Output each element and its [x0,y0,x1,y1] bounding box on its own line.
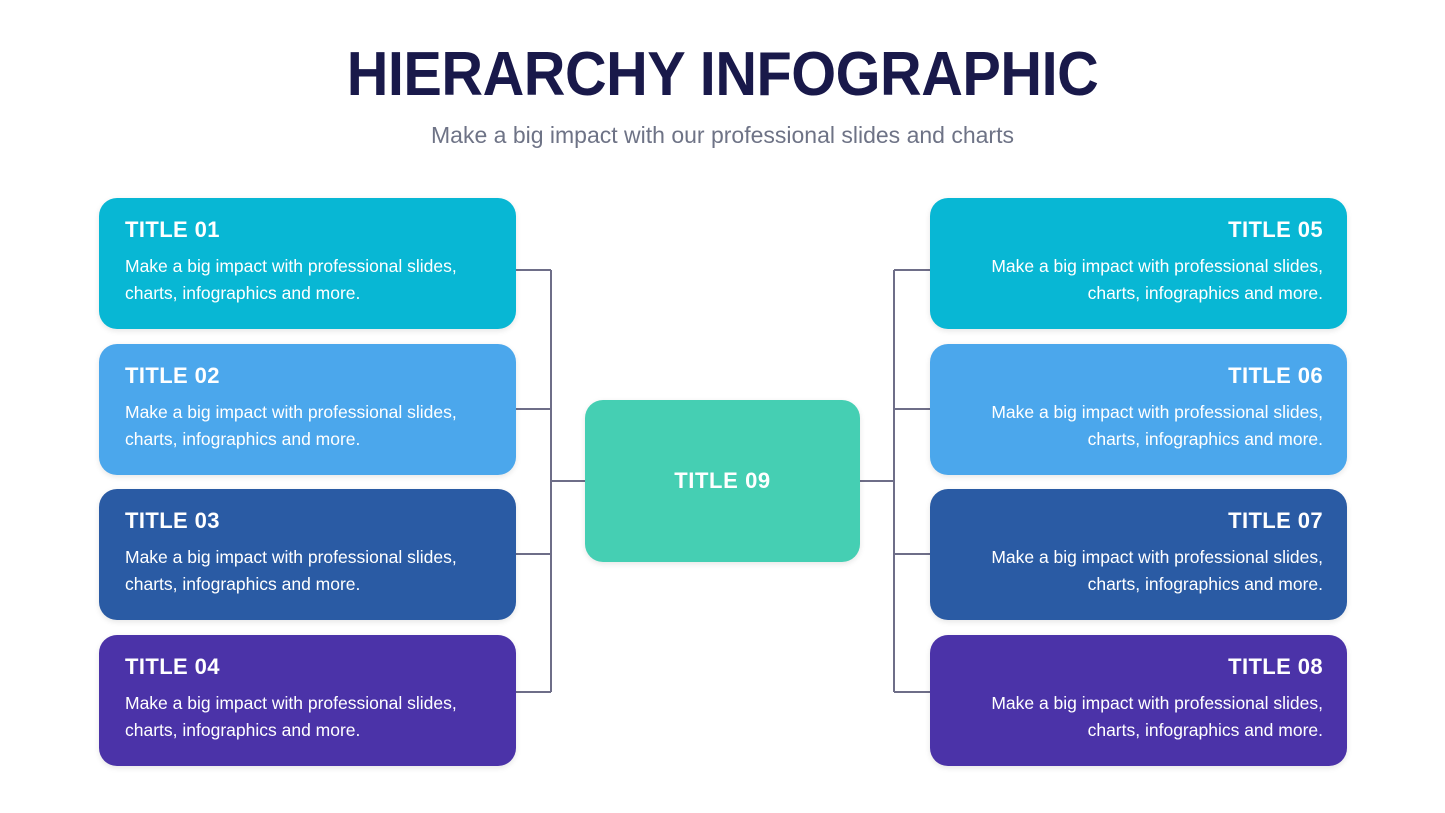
card-title-05[interactable]: TITLE 05 Make a big impact with professi… [930,198,1347,329]
card-title-label: TITLE 02 [125,364,492,388]
card-title-label: TITLE 06 [956,364,1323,388]
connector-group-left [515,270,585,692]
card-title-06[interactable]: TITLE 06 Make a big impact with professi… [930,344,1347,475]
infographic-slide: HIERARCHY INFOGRAPHIC Make a big impact … [0,0,1445,813]
card-title-01[interactable]: TITLE 01 Make a big impact with professi… [99,198,516,329]
card-body-text: Make a big impact with professional slid… [125,253,492,307]
card-title-label: TITLE 04 [125,655,492,679]
card-body-text: Make a big impact with professional slid… [125,399,492,453]
center-node-label: TITLE 09 [674,468,771,494]
card-body-text: Make a big impact with professional slid… [956,253,1323,307]
card-title-07[interactable]: TITLE 07 Make a big impact with professi… [930,489,1347,620]
card-title-label: TITLE 05 [956,218,1323,242]
card-title-02[interactable]: TITLE 02 Make a big impact with professi… [99,344,516,475]
card-title-label: TITLE 07 [956,509,1323,533]
card-title-04[interactable]: TITLE 04 Make a big impact with professi… [99,635,516,766]
center-node-title-09[interactable]: TITLE 09 [585,400,860,562]
card-title-label: TITLE 03 [125,509,492,533]
card-title-08[interactable]: TITLE 08 Make a big impact with professi… [930,635,1347,766]
card-body-text: Make a big impact with professional slid… [125,690,492,744]
card-title-label: TITLE 08 [956,655,1323,679]
card-body-text: Make a big impact with professional slid… [956,544,1323,598]
card-title-03[interactable]: TITLE 03 Make a big impact with professi… [99,489,516,620]
card-body-text: Make a big impact with professional slid… [956,690,1323,744]
connector-group-right [860,270,930,692]
card-body-text: Make a big impact with professional slid… [956,399,1323,453]
card-body-text: Make a big impact with professional slid… [125,544,492,598]
card-title-label: TITLE 01 [125,218,492,242]
